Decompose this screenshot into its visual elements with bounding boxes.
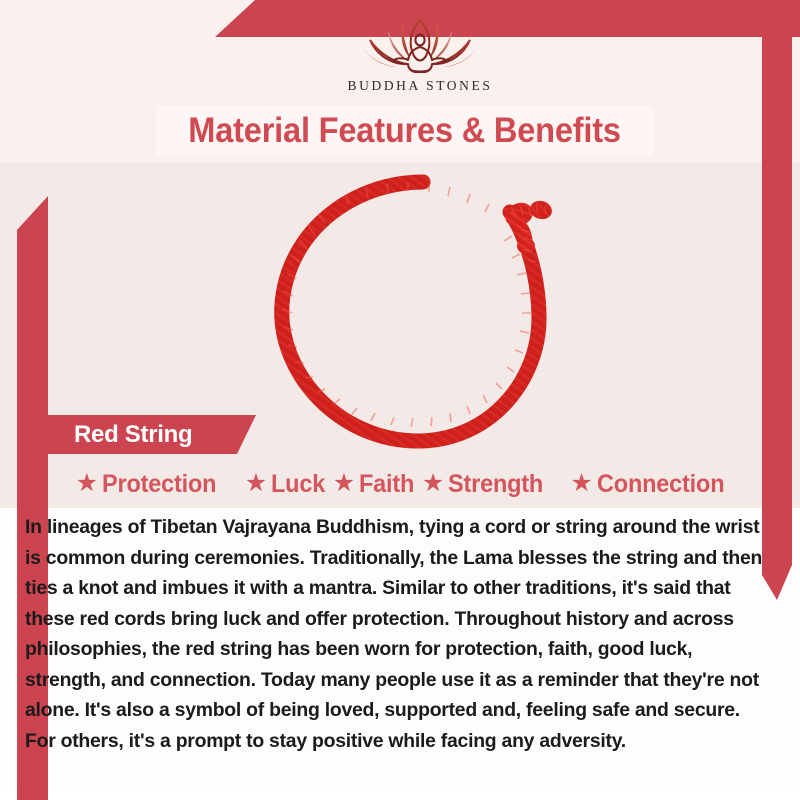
background-footer (0, 786, 800, 800)
star-icon: ★ (570, 471, 592, 496)
benefit-item: ★ Strength (422, 470, 550, 499)
brand-logo: BUDDHA STONES (288, 14, 552, 104)
star-icon: ★ (245, 471, 267, 496)
benefit-item: ★ Luck (245, 470, 329, 499)
benefits-row: ★ Protection ★ Luck ★ Faith ★ Strength ★… (46, 466, 762, 502)
lotus-meditation-logo-icon (340, 14, 500, 76)
product-label-banner: Red String (24, 415, 256, 454)
benefit-label: Luck (271, 470, 325, 499)
benefit-label: Strength (448, 470, 543, 499)
brand-name: BUDDHA STONES (288, 78, 552, 94)
star-icon: ★ (76, 471, 98, 496)
title-banner: Material Features & Benefits (156, 106, 653, 156)
page-title: Material Features & Benefits (188, 111, 621, 151)
red-braided-string-bracelet-icon (258, 168, 588, 456)
product-image (258, 168, 588, 456)
infographic-page: BUDDHA STONES Material Features & Benefi… (0, 0, 800, 800)
star-icon: ★ (422, 471, 444, 496)
star-icon: ★ (333, 471, 355, 496)
benefit-label: Connection (597, 470, 724, 499)
decorative-band-right (762, 0, 792, 600)
benefit-label: Faith (359, 470, 414, 499)
description-text: In lineages of Tibetan Vajrayana Buddhis… (25, 512, 775, 756)
benefit-item: ★ Faith (333, 470, 418, 499)
benefit-item: ★ Connection (570, 470, 732, 499)
benefit-label: Protection (102, 470, 216, 499)
product-label: Red String (74, 421, 192, 449)
benefit-item: ★ Protection (76, 470, 224, 499)
